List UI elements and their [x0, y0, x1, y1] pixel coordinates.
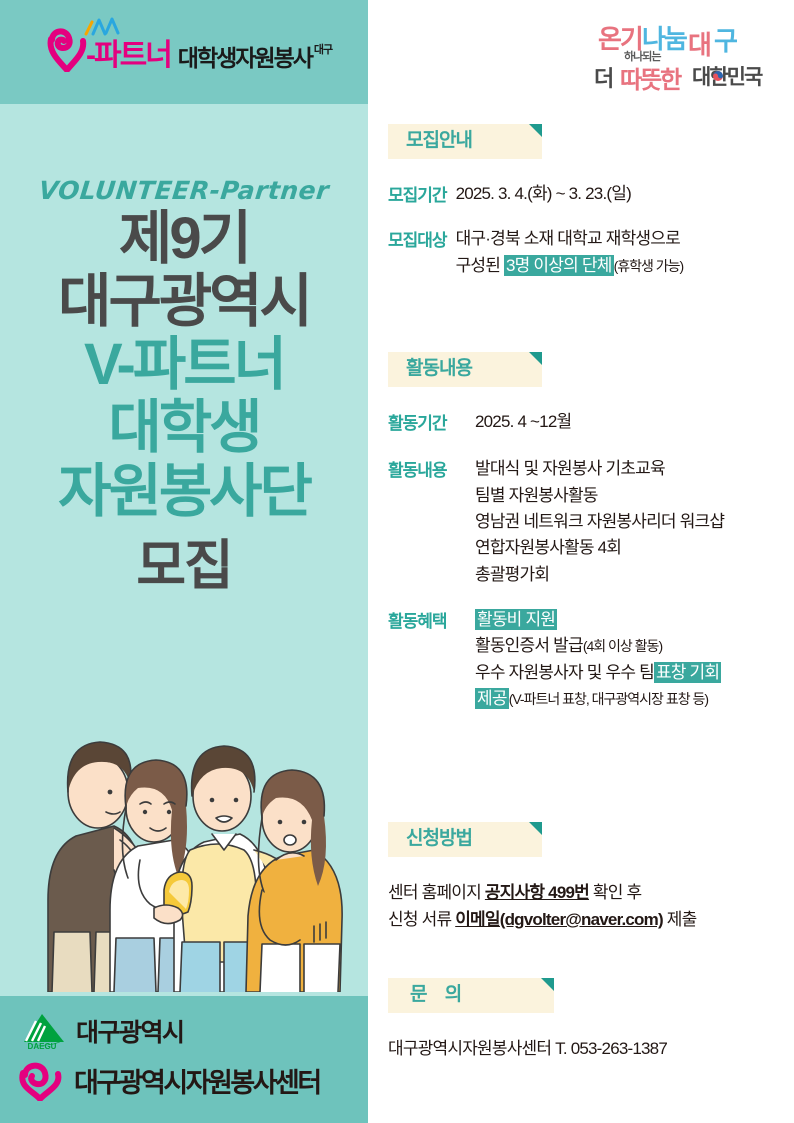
row-recruit-target: 모집대상 대구·경북 소재 대학교 재학생으로 구성된 3명 이상의 단체(휴학… — [388, 226, 788, 279]
title-line-5: 자원봉사단 — [0, 462, 368, 521]
row-activity-benefits: 활동혜택 활동비 지원 활동인증서 발급(4회 이상 활동) 우수 자원봉사자 … — [388, 607, 788, 712]
tag-corner-icon — [541, 978, 554, 991]
text-seg: 구성된 — [456, 256, 504, 275]
footer-logos: DAEGU 대구광역시 대구광역시자원봉사센터 — [16, 1011, 356, 1109]
section-tag-activity: 활동내용 — [388, 352, 542, 387]
text-seg: 제출 — [663, 910, 697, 929]
daegu-city-logo: DAEGU 대구광역시 — [16, 1011, 356, 1051]
text-line: 우수 자원봉사자 및 우수 팀표창 기회 — [475, 660, 788, 686]
row-label: 활동기간 — [388, 409, 475, 435]
daegu-slogan-logo: 온기 나눔 대 구 하나되는 더 따뜻한 대한민국 — [584, 14, 770, 96]
slogan-line1-part4: 구 — [714, 26, 737, 56]
text-line: 활동비 지원 — [475, 607, 788, 633]
slogan-line1-part1: 온기 — [598, 24, 642, 54]
slogan-line2-part1: 더 — [594, 66, 612, 91]
text-seg-highlight: 3명 이상의 단체 — [504, 255, 614, 276]
right-content-column: 온기 나눔 대 구 하나되는 더 따뜻한 대한민국 모집안내 모집기간 2025… — [368, 0, 794, 1123]
title-line-3: V-파트너 — [0, 335, 368, 394]
section-tag-label: 신청방법 — [406, 828, 472, 849]
tag-corner-icon — [529, 822, 542, 835]
title-line-4: 대학생 — [0, 398, 368, 457]
text-seg: 우수 자원봉사자 및 우수 팀 — [475, 663, 654, 682]
sparkle-icon — [82, 16, 126, 40]
section-tag-recruit-info: 모집안내 — [388, 124, 542, 159]
text-line: 영남권 네트워크 자원봉사리더 워크샵 — [475, 509, 788, 535]
row-body: 활동비 지원 활동인증서 발급(4회 이상 활동) 우수 자원봉사자 및 우수 … — [475, 607, 788, 712]
title-line-2: 대구광역시 — [0, 272, 368, 331]
left-poster-panel: -파트너 대학생자원봉사 대구 VOLUNTEER-Partner 제9기 대구… — [0, 0, 368, 1123]
text-seg: 센터 홈페이지 — [388, 883, 485, 902]
tag-corner-icon — [529, 352, 542, 365]
apply-line-1: 센터 홈페이지 공지사항 499번 확인 후 — [388, 879, 788, 906]
row-body: 2025. 4 ~12월 — [475, 409, 788, 435]
v-partner-heart-icon — [46, 26, 90, 72]
volunteer-center-logo: 대구광역시자원봉사센터 — [16, 1059, 356, 1101]
text-seg-highlight: 제공 — [475, 688, 509, 709]
email-link[interactable]: 이메일(dgvolter@naver.com) — [455, 910, 663, 929]
row-recruit-period: 모집기간 2025. 3. 4.(화) ~ 3. 23.(일) — [388, 181, 788, 207]
row-activity-period: 활동기간 2025. 4 ~12월 — [388, 409, 788, 435]
text-line: 제공(V-파트너 표창, 대구광역시장 표창 등) — [475, 686, 788, 712]
slogan-small: 하나되는 — [624, 49, 661, 63]
v-partner-logo: -파트너 대학생자원봉사 대구 — [46, 26, 332, 72]
text-line: 구성된 3명 이상의 단체(휴학생 가능) — [456, 253, 788, 279]
tag-corner-icon — [529, 124, 542, 137]
text-seg-small: (4회 이상 활동) — [583, 638, 662, 654]
script-title: VOLUNTEER-Partner — [0, 176, 370, 205]
text-seg-small: (V-파트너 표창, 대구광역시장 표창 등) — [509, 691, 708, 707]
title-line-recruit: 모집 — [0, 521, 368, 600]
v-partner-region: 대구 — [314, 45, 332, 56]
row-activity-content: 활동내용 발대식 및 자원봉사 기초교육 팀별 자원봉사활동 영남권 네트워크 … — [388, 456, 788, 588]
students-illustration — [14, 700, 354, 992]
text-line: 팀별 자원봉사활동 — [475, 483, 788, 509]
text-seg-highlight: 활동비 지원 — [475, 609, 557, 630]
section-tag-contact: 문 의 — [388, 978, 554, 1013]
section-tag-label: 모집안내 — [406, 130, 472, 151]
title-line-1: 제9기 — [0, 209, 368, 268]
text-line: 활동인증서 발급(4회 이상 활동) — [475, 633, 788, 659]
row-label: 활동내용 — [388, 456, 475, 588]
text-line: 발대식 및 자원봉사 기초교육 — [475, 456, 788, 482]
section-tag-label: 활동내용 — [406, 358, 472, 379]
apply-line-2: 신청 서류 이메일(dgvolter@naver.com) 제출 — [388, 906, 788, 933]
row-body: 대구·경북 소재 대학교 재학생으로 구성된 3명 이상의 단체(휴학생 가능) — [456, 226, 788, 279]
row-label: 활동혜택 — [388, 607, 475, 712]
text-seg-highlight: 표창 기회 — [654, 662, 721, 683]
text-seg: 활동인증서 발급 — [475, 636, 583, 655]
volunteer-heart-icon — [16, 1059, 66, 1101]
row-body: 2025. 3. 4.(화) ~ 3. 23.(일) — [456, 181, 788, 207]
text-line: 2025. 4 ~12월 — [475, 409, 788, 435]
contact-line: 대구광역시자원봉사센터 T. 053-263-1387 — [388, 1035, 788, 1062]
section-how-to-apply: 신청방법 센터 홈페이지 공지사항 499번 확인 후 신청 서류 이메일(dg… — [388, 822, 788, 933]
row-label: 모집대상 — [388, 226, 456, 279]
text-seg-small: (휴학생 가능) — [614, 258, 684, 274]
text-line: 총괄평가회 — [475, 562, 788, 588]
text-seg: 신청 서류 — [388, 910, 455, 929]
section-recruit-info: 모집안내 모집기간 2025. 3. 4.(화) ~ 3. 23.(일) 모집대… — [388, 124, 788, 282]
slogan-line1-part2: 나눔 — [642, 24, 688, 54]
row-body: 발대식 및 자원봉사 기초교육 팀별 자원봉사활동 영남권 네트워크 자원봉사리… — [475, 456, 788, 588]
section-tag-apply: 신청방법 — [388, 822, 542, 857]
v-partner-wordmark: -파트너 — [86, 41, 171, 71]
daegu-city-label: 대구광역시 — [76, 1013, 184, 1049]
section-activity-info: 활동내용 활동기간 2025. 4 ~12월 활동내용 발대식 및 자원봉사 기… — [388, 352, 788, 715]
text-line: 대구·경북 소재 대학교 재학생으로 — [456, 226, 788, 252]
slogan-line2-part2: 따뜻한 — [620, 67, 682, 94]
section-contact: 문 의 대구광역시자원봉사센터 T. 053-263-1387 — [388, 978, 788, 1062]
daegu-caption: DAEGU — [28, 1042, 57, 1051]
volunteer-center-label: 대구광역시자원봉사센터 — [74, 1061, 320, 1100]
text-line: 연합자원봉사활동 4회 — [475, 535, 788, 561]
slogan-line1-part3: 대 — [688, 30, 710, 60]
poster-title-block: VOLUNTEER-Partner 제9기 대구광역시 V-파트너 대학생 자원… — [0, 176, 368, 600]
daegu-triangle-icon: DAEGU — [16, 1011, 68, 1051]
text-seg: 확인 후 — [589, 883, 641, 902]
slogan-line2-part3: 대한민국 — [692, 66, 763, 89]
notice-link[interactable]: 공지사항 499번 — [485, 883, 589, 902]
section-tag-label: 문 의 — [410, 984, 468, 1005]
v-partner-subtitle: 대학생자원봉사 — [178, 47, 312, 70]
row-label: 모집기간 — [388, 181, 456, 207]
text-line: 2025. 3. 4.(화) ~ 3. 23.(일) — [456, 181, 788, 207]
